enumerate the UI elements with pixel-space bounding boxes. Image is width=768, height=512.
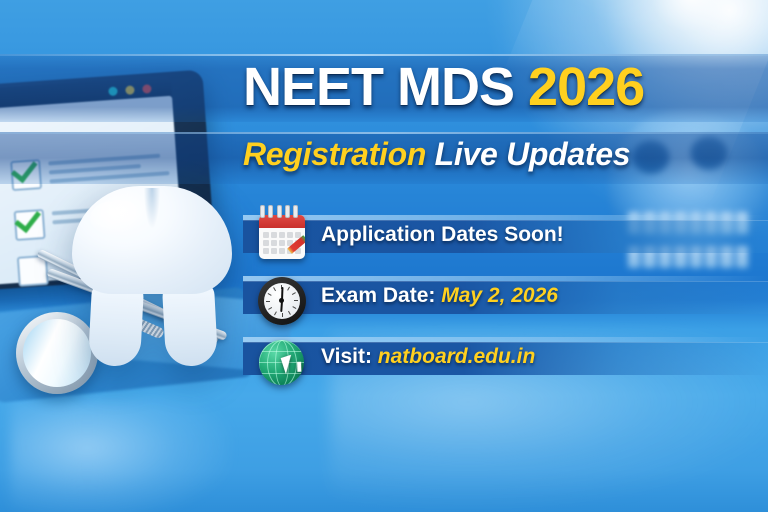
checkbox xyxy=(14,209,46,241)
calendar-body xyxy=(259,215,305,259)
info-row-exam-date: Exam Date: May 2, 2026 xyxy=(243,281,768,314)
tooth-crown xyxy=(72,186,232,294)
clock-face xyxy=(264,283,300,319)
globe-icon xyxy=(255,334,311,390)
neet-mds-banner: NEET MDS 2026 Registration Live Updates … xyxy=(0,0,768,512)
page-subtitle: Registration Live Updates xyxy=(243,138,763,170)
info-row-label: Application Dates Soon! xyxy=(321,223,564,246)
tooth-image xyxy=(72,186,232,361)
info-row-value: natboard.edu.in xyxy=(378,345,536,368)
info-row-value: May 2, 2026 xyxy=(441,284,558,307)
checklist-item xyxy=(17,257,19,287)
desk-glow xyxy=(10,400,230,512)
info-row-label: Exam Date: xyxy=(321,284,441,307)
info-row-application-dates: Application Dates Soon! xyxy=(243,220,768,253)
tooth-cleft xyxy=(144,188,160,228)
checklist-item xyxy=(14,211,16,241)
subtitle-highlight: Registration xyxy=(243,136,426,172)
clock-body xyxy=(258,277,306,325)
info-row-label: Visit: xyxy=(321,345,378,368)
page-title: NEET MDS 2026 xyxy=(243,60,743,114)
subtitle-rest: Live Updates xyxy=(426,136,630,172)
info-row-website: Visit: natboard.edu.in xyxy=(243,342,768,375)
info-row-text: Visit: natboard.edu.in xyxy=(321,345,535,369)
clock-icon xyxy=(255,272,311,328)
clock-pivot xyxy=(279,298,284,303)
info-row-text: Exam Date: May 2, 2026 xyxy=(321,284,558,308)
title-year: 2026 xyxy=(528,57,644,117)
tooth-highlight xyxy=(90,200,146,236)
title-main: NEET MDS xyxy=(243,57,528,117)
check-icon xyxy=(14,205,41,233)
info-row-text: Application Dates Soon! xyxy=(321,223,564,247)
calendar-rings xyxy=(260,205,298,218)
calendar-icon xyxy=(255,209,311,265)
